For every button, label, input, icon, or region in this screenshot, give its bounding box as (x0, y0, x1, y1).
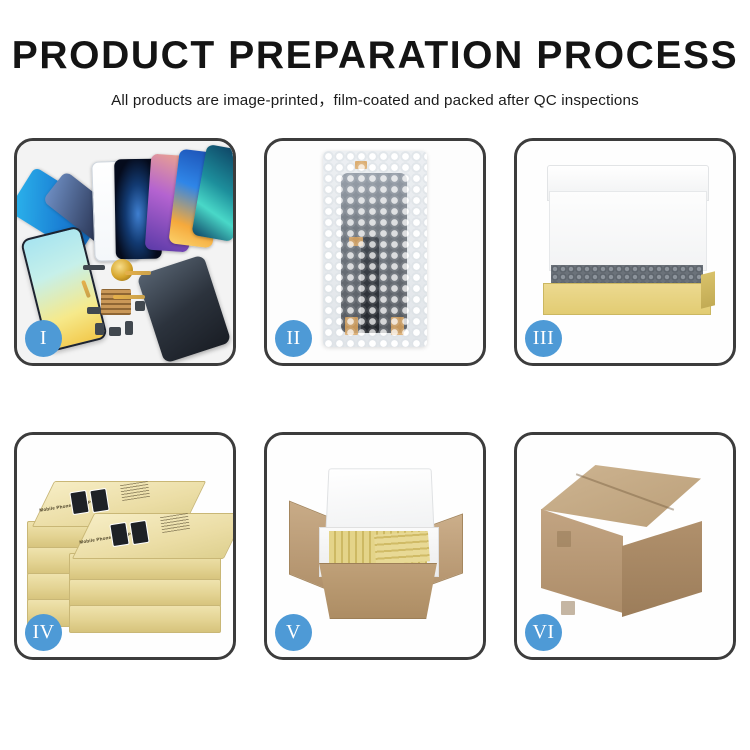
process-step-panel-1: I (14, 138, 236, 366)
process-step-panel-5: V (264, 432, 486, 660)
carton-tape-icon (557, 531, 571, 547)
flex-cable-icon (113, 295, 145, 299)
step-badge-2: II (275, 320, 312, 357)
page-header: PRODUCT PREPARATION PROCESS All products… (0, 0, 750, 110)
coil-part-icon (111, 259, 133, 281)
small-part-icon (109, 327, 121, 336)
bubble-texture-icon (323, 151, 427, 347)
small-part-icon (83, 265, 105, 270)
bubble-bag-icon (323, 151, 427, 347)
step-badge-4: IV (25, 614, 62, 651)
step-badge-1: I (25, 320, 62, 357)
small-part-icon (95, 323, 104, 335)
process-step-grid: I II III (14, 138, 736, 660)
page-subtitle: All products are image-printed，film-coat… (0, 88, 750, 110)
inner-box-icon (533, 165, 719, 325)
box-window-icon (109, 522, 129, 547)
kraft-box-front-icon (543, 283, 711, 315)
stacked-box-icon (69, 579, 221, 607)
small-part-icon (135, 301, 145, 311)
step-badge-5: V (275, 614, 312, 651)
foam-lid-icon (325, 468, 434, 531)
foam-sheet-icon (549, 191, 707, 271)
box-window-icon (69, 490, 89, 515)
step-badge-6: VI (525, 614, 562, 651)
stacked-box-icon (69, 605, 221, 633)
box-window-icon (89, 488, 109, 513)
process-step-panel-6: VI (514, 432, 736, 660)
process-step-panel-3: III (514, 138, 736, 366)
small-part-icon (125, 321, 133, 335)
process-step-panel-2: II (264, 138, 486, 366)
page-title: PRODUCT PREPARATION PROCESS (0, 36, 750, 77)
process-step-panel-4: Mobile Phone Spare Parts Mobile Phone Sp… (14, 432, 236, 660)
carton-front-icon (311, 563, 445, 619)
carton-left-face-icon (541, 509, 623, 613)
box-window-icon (129, 520, 149, 545)
kraft-box-side-icon (701, 271, 715, 308)
chip-array-icon (101, 289, 131, 315)
carton-right-face-icon (622, 521, 702, 617)
small-part-icon (87, 307, 101, 314)
carton-tape-icon (561, 601, 575, 615)
packed-boxes-icon (374, 531, 430, 565)
step-badge-3: III (525, 320, 562, 357)
flex-cable-icon (125, 271, 151, 275)
